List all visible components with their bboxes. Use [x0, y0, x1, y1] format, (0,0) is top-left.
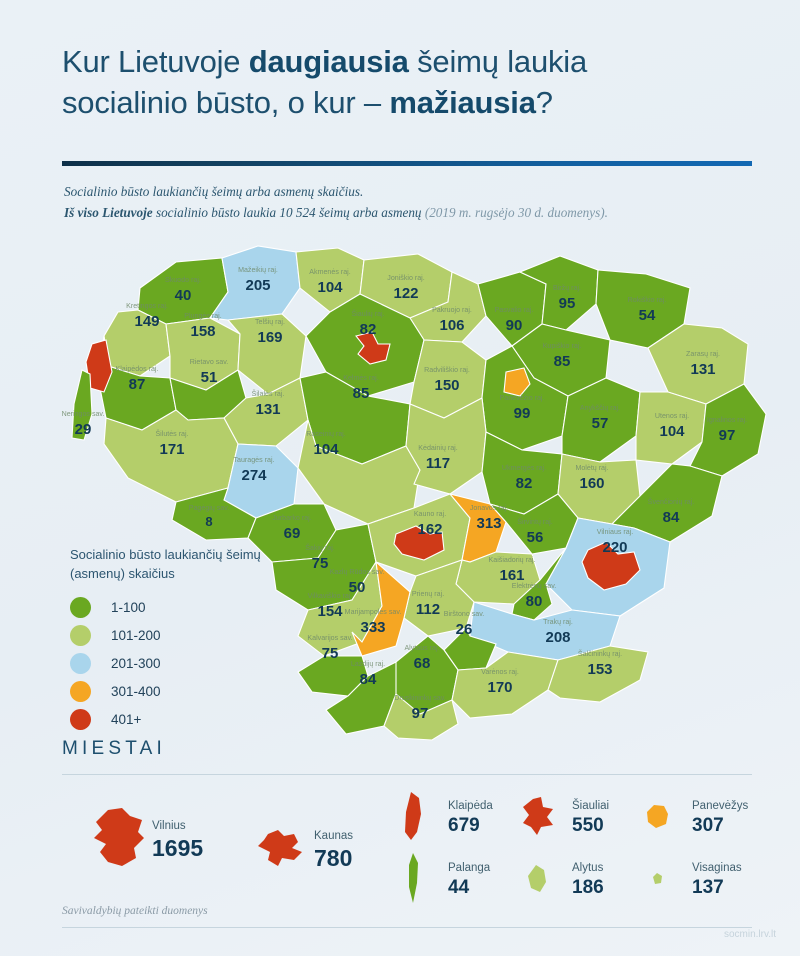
- svg-text:153: 153: [587, 661, 612, 678]
- palanga-shape-icon: [386, 851, 442, 907]
- legend-label: 301-400: [111, 684, 161, 699]
- city-name: Klaipėda: [448, 800, 493, 812]
- footer-note: Savivaldybių pateikti duomenys: [62, 905, 208, 917]
- svg-text:158: 158: [190, 323, 215, 340]
- svg-text:Klaipėdos raj.: Klaipėdos raj.: [116, 365, 159, 373]
- svg-text:Jurbarko raj.: Jurbarko raj.: [272, 514, 311, 522]
- svg-text:Prienų raj.: Prienų raj.: [412, 590, 444, 598]
- svg-text:104: 104: [659, 423, 685, 440]
- city-name: Visaginas: [692, 862, 742, 874]
- city-visaginas[interactable]: Visaginas 137: [630, 851, 742, 907]
- visaginas-shape-icon: [630, 851, 686, 907]
- svg-text:122: 122: [393, 285, 418, 302]
- svg-text:Kelmės raj.: Kelmės raj.: [343, 374, 379, 382]
- svg-text:69: 69: [284, 525, 301, 542]
- svg-text:Neringos sav.: Neringos sav.: [62, 410, 105, 418]
- svg-text:131: 131: [690, 361, 715, 378]
- alytus-shape-icon: [510, 851, 566, 907]
- klaipeda-shape-icon: [386, 789, 442, 845]
- svg-text:Kretingos raj.: Kretingos raj.: [126, 302, 168, 310]
- svg-text:Panevėžio raj.: Panevėžio raj.: [500, 394, 545, 402]
- svg-text:8: 8: [205, 514, 212, 529]
- svg-text:131: 131: [255, 401, 280, 418]
- page-title: Kur Lietuvoje daugiausia šeimų laukia so…: [62, 42, 752, 124]
- klaipeda-text: Klaipėda 679: [448, 796, 493, 838]
- legend-swatch-2: [70, 625, 91, 646]
- svg-text:97: 97: [719, 427, 736, 444]
- svg-text:Molėtų raj.: Molėtų raj.: [575, 464, 608, 472]
- svg-text:Jonavos raj.: Jonavos raj.: [470, 504, 508, 512]
- svg-text:274: 274: [241, 467, 267, 484]
- svg-text:Šilalės raj.: Šilalės raj.: [252, 389, 285, 398]
- svg-text:171: 171: [159, 441, 184, 458]
- svg-text:87: 87: [129, 376, 146, 393]
- kaunas-shape-icon: [252, 821, 308, 877]
- svg-text:Utenos raj.: Utenos raj.: [655, 412, 689, 420]
- svg-text:Vilniaus raj.: Vilniaus raj.: [597, 528, 634, 536]
- svg-text:Kėdainių raj.: Kėdainių raj.: [418, 444, 457, 452]
- title-text-4: ?: [536, 85, 553, 120]
- svg-text:Tauragės raj.: Tauragės raj.: [233, 456, 274, 464]
- svg-text:Mažeikių raj.: Mažeikių raj.: [238, 266, 278, 274]
- svg-text:Akmenės raj.: Akmenės raj.: [309, 268, 350, 276]
- legend-item[interactable]: 1-100: [70, 595, 290, 620]
- header: Kur Lietuvoje daugiausia šeimų laukia so…: [62, 42, 752, 124]
- legend-item[interactable]: 301-400: [70, 679, 290, 704]
- title-bold-2: mažiausia: [389, 85, 535, 120]
- svg-text:112: 112: [416, 601, 440, 618]
- svg-text:80: 80: [526, 593, 543, 610]
- title-text-3: socialinio būsto, o kur –: [62, 85, 389, 120]
- svg-text:169: 169: [257, 329, 282, 346]
- svg-text:40: 40: [175, 287, 192, 304]
- legend-label: 401+: [111, 712, 141, 727]
- subtitle-note: (2019 m. rugsėjo 30 d. duomenys).: [425, 205, 608, 220]
- svg-text:Kaišiadorių raj.: Kaišiadorių raj.: [489, 556, 536, 564]
- subtitle-line-1: Socialinio būsto laukiančių šeimų arba a…: [64, 181, 764, 202]
- svg-text:85: 85: [353, 385, 370, 402]
- svg-text:51: 51: [201, 369, 218, 386]
- svg-text:Plungės raj.: Plungės raj.: [184, 312, 221, 320]
- svg-text:29: 29: [75, 421, 92, 438]
- svg-text:Anykščių raj.: Anykščių raj.: [580, 404, 620, 412]
- svg-text:149: 149: [134, 313, 159, 330]
- title-text-2: šeimų laukia: [409, 44, 587, 79]
- city-value: 307: [692, 815, 724, 836]
- svg-text:97: 97: [412, 705, 429, 722]
- legend-label: 1-100: [111, 600, 146, 615]
- svg-text:Skuodo raj.: Skuodo raj.: [165, 276, 201, 284]
- legend-item[interactable]: 101-200: [70, 623, 290, 648]
- svg-text:84: 84: [663, 509, 680, 526]
- svg-text:160: 160: [579, 475, 604, 492]
- svg-text:82: 82: [516, 475, 533, 492]
- city-name: Šiauliai: [572, 800, 609, 812]
- svg-text:Druskininkų sav.: Druskininkų sav.: [394, 694, 446, 702]
- title-bold-1: daugiausia: [249, 44, 409, 79]
- city-name: Palanga: [448, 862, 490, 874]
- cities-heading: MIESTAI: [62, 738, 752, 760]
- svg-text:Varėnos raj.: Varėnos raj.: [481, 668, 519, 676]
- svg-text:150: 150: [434, 377, 459, 394]
- city-alytus[interactable]: Alytus 186: [510, 851, 604, 907]
- svg-text:Šilutės raj.: Šilutės raj.: [155, 429, 188, 438]
- svg-text:75: 75: [322, 645, 339, 662]
- svg-text:99: 99: [514, 405, 531, 422]
- svg-text:Širvintų raj.: Širvintų raj.: [517, 517, 553, 526]
- panevezys-text: Panevėžys 307: [692, 796, 748, 838]
- svg-text:Radviliškio raj.: Radviliškio raj.: [424, 366, 470, 374]
- svg-text:Kauno raj.: Kauno raj.: [414, 510, 446, 518]
- svg-text:154: 154: [317, 603, 343, 620]
- svg-text:Zarasų raj.: Zarasų raj.: [686, 350, 720, 358]
- city-kaunas[interactable]: Kaunas 780: [252, 821, 353, 877]
- city-value: 780: [314, 845, 352, 871]
- svg-text:117: 117: [426, 455, 450, 472]
- legend-swatch-4: [70, 681, 91, 702]
- cities-section: MIESTAI Vilnius 1695 Kaunas 780: [62, 738, 752, 928]
- map-legend: Socialinio būsto laukiančių šeimų (asmen…: [70, 546, 290, 735]
- svg-text:Ignalinos raj.: Ignalinos raj.: [707, 416, 747, 424]
- svg-text:205: 205: [245, 277, 270, 294]
- legend-item[interactable]: 201-300: [70, 651, 290, 676]
- svg-text:Šalčininkų raj.: Šalčininkų raj.: [578, 649, 622, 658]
- svg-text:Kalvarijos sav.: Kalvarijos sav.: [307, 634, 352, 642]
- visaginas-text: Visaginas 137: [692, 858, 742, 900]
- svg-text:26: 26: [456, 621, 473, 638]
- legend-swatch-1: [70, 597, 91, 618]
- city-klaipeda[interactable]: Klaipėda 679: [386, 789, 493, 845]
- subtitle-rest: socialinio būsto laukia 10 524 šeimų arb…: [153, 205, 425, 220]
- svg-text:Biržų raj.: Biržų raj.: [553, 284, 581, 292]
- subtitle-bold: Iš viso Lietuvoje: [64, 205, 153, 220]
- svg-text:162: 162: [417, 521, 442, 538]
- svg-text:Lazdijų raj.: Lazdijų raj.: [351, 660, 385, 668]
- svg-text:106: 106: [439, 317, 464, 334]
- city-name: Panevėžys: [692, 800, 748, 812]
- svg-text:85: 85: [554, 353, 571, 370]
- svg-text:Rokiškio raj.: Rokiškio raj.: [628, 296, 667, 304]
- svg-text:Švenčionių raj.: Švenčionių raj.: [648, 497, 695, 506]
- svg-text:57: 57: [592, 415, 609, 432]
- svg-text:Ukmergės raj.: Ukmergės raj.: [502, 464, 546, 472]
- subtitle: Socialinio būsto laukiančių šeimų arba a…: [64, 181, 764, 224]
- palanga-text: Palanga 44: [448, 858, 490, 900]
- legend-title: Socialinio būsto laukiančių šeimų (asmen…: [70, 546, 290, 584]
- svg-text:Trakų raj.: Trakų raj.: [543, 618, 573, 626]
- svg-text:Vilkaviškio raj.: Vilkaviškio raj.: [308, 592, 353, 600]
- svg-text:Šakių raj.: Šakių raj.: [305, 543, 335, 552]
- svg-text:333: 333: [360, 619, 385, 636]
- city-value: 186: [572, 877, 604, 898]
- svg-text:170: 170: [487, 679, 512, 696]
- watermark: socmin.lrv.lt: [724, 929, 776, 940]
- svg-text:313: 313: [476, 515, 501, 532]
- cities-divider-bottom: [62, 927, 752, 928]
- svg-text:54: 54: [639, 307, 656, 324]
- kaunas-text: Kaunas 780: [314, 826, 353, 873]
- svg-text:68: 68: [414, 655, 431, 672]
- cities-row: Vilnius 1695 Kaunas 780 Klaipėda: [62, 775, 752, 913]
- city-value: 550: [572, 815, 604, 836]
- legend-label: 101-200: [111, 628, 161, 643]
- svg-text:56: 56: [527, 529, 544, 546]
- svg-text:Elektrėnų sav.: Elektrėnų sav.: [512, 582, 556, 590]
- header-divider: [62, 161, 752, 166]
- subtitle-line-2: Iš viso Lietuvoje socialinio būsto lauki…: [64, 202, 764, 223]
- legend-swatch-5: [70, 709, 91, 730]
- svg-text:104: 104: [317, 279, 343, 296]
- siauliai-text: Šiauliai 550: [572, 796, 609, 838]
- svg-text:Kazlų Rūdos sav.: Kazlų Rūdos sav.: [330, 568, 385, 576]
- city-palanga[interactable]: Palanga 44: [386, 851, 490, 907]
- svg-text:Kupiškio raj.: Kupiškio raj.: [543, 342, 582, 350]
- svg-text:Alytaus raj.: Alytaus raj.: [404, 644, 439, 652]
- legend-label: 201-300: [111, 656, 161, 671]
- svg-text:82: 82: [360, 321, 377, 338]
- svg-text:Raseinių raj.: Raseinių raj.: [306, 430, 345, 438]
- siauliai-shape-icon: [510, 789, 566, 845]
- svg-text:Pakruojo raj.: Pakruojo raj.: [432, 306, 472, 314]
- svg-text:Birštono sav.: Birštono sav.: [444, 610, 485, 618]
- svg-text:Pagėgių sav.: Pagėgių sav.: [189, 504, 230, 512]
- svg-text:Telšių raj.: Telšių raj.: [255, 318, 285, 326]
- svg-text:104: 104: [313, 441, 339, 458]
- title-text-1: Kur Lietuvoje: [62, 44, 249, 79]
- vilnius-shape-icon: [90, 811, 146, 867]
- city-name: Kaunas: [314, 830, 353, 842]
- city-vilnius[interactable]: Vilnius 1695: [90, 811, 203, 867]
- city-panevezys[interactable]: Panevėžys 307: [630, 789, 748, 845]
- svg-text:90: 90: [506, 317, 523, 334]
- city-value: 679: [448, 815, 480, 836]
- legend-list: 1-100 101-200 201-300 301-400 401+: [70, 595, 290, 732]
- svg-text:208: 208: [545, 629, 570, 646]
- city-value: 44: [448, 877, 469, 898]
- legend-swatch-3: [70, 653, 91, 674]
- svg-text:Marijampolės sav.: Marijampolės sav.: [345, 608, 402, 616]
- city-name: Alytus: [572, 862, 603, 874]
- svg-text:Pasvalio raj.: Pasvalio raj.: [495, 306, 534, 314]
- alytus-text: Alytus 186: [572, 858, 604, 900]
- city-siauliai[interactable]: Šiauliai 550: [510, 789, 609, 845]
- svg-text:Joniškio raj.: Joniškio raj.: [387, 274, 424, 282]
- svg-text:75: 75: [312, 555, 329, 572]
- svg-text:Rietavo sav.: Rietavo sav.: [190, 358, 229, 366]
- infographic-page: Kur Lietuvoje daugiausia šeimų laukia so…: [0, 0, 800, 956]
- city-value: 1695: [152, 835, 203, 861]
- svg-text:220: 220: [602, 539, 627, 556]
- panevezys-shape-icon: [630, 789, 686, 845]
- city-name: Vilnius: [152, 820, 186, 832]
- svg-text:84: 84: [360, 671, 377, 688]
- vilnius-text: Vilnius 1695: [152, 816, 203, 863]
- legend-item[interactable]: 401+: [70, 707, 290, 732]
- city-value: 137: [692, 877, 724, 898]
- svg-text:Šiaulių raj.: Šiaulių raj.: [351, 309, 384, 318]
- svg-text:95: 95: [559, 295, 576, 312]
